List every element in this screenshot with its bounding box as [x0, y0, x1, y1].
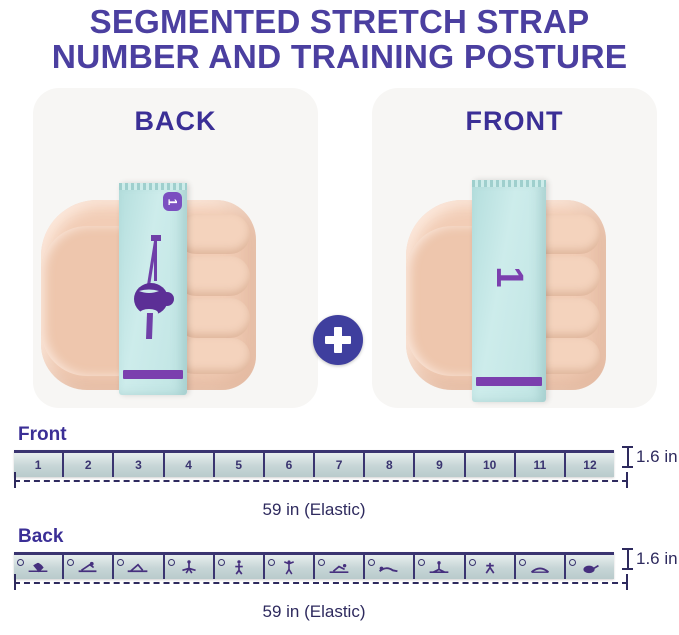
- back-strip-row: 1.6 in: [14, 552, 679, 594]
- back-segment: [566, 555, 614, 579]
- front-segment-number: 6: [286, 458, 293, 472]
- segment-marker-dot: [117, 559, 124, 566]
- panel-front: FRONT 1: [372, 88, 657, 408]
- back-height-label: 1.6 in: [636, 549, 678, 569]
- strap-back: 1: [119, 183, 187, 395]
- finger-segment: [176, 298, 250, 338]
- back-length-label: 59 in (Elastic): [14, 602, 614, 622]
- finger-segment: [176, 338, 250, 374]
- back-segment: [215, 555, 265, 579]
- segment-marker-dot: [17, 559, 24, 566]
- strap-badge-number: 1: [167, 198, 179, 205]
- front-segment: 3: [114, 453, 164, 477]
- pose-seated-straddle-icon: [426, 560, 452, 575]
- front-segment: 7: [315, 453, 365, 477]
- segment-marker-dot: [368, 559, 375, 566]
- front-segment: 10: [466, 453, 516, 477]
- diagram-label-front: Front: [18, 424, 679, 446]
- pose-side-lunge-icon: [326, 560, 352, 575]
- diagram-label-back: Back: [18, 526, 679, 548]
- front-length-label: 59 in (Elastic): [14, 500, 614, 520]
- front-segment: 1: [14, 453, 64, 477]
- back-segment: [516, 555, 566, 579]
- product-photo-panels: BACK 1: [0, 88, 679, 418]
- front-strip: 123456789101112: [14, 450, 614, 477]
- panel-label-front: FRONT: [372, 106, 657, 137]
- front-segment-number: 7: [336, 458, 343, 472]
- front-dimension-line: [14, 480, 628, 483]
- segment-marker-dot: [318, 559, 325, 566]
- strap-number-badge: 1: [163, 192, 182, 211]
- back-tick-right: [626, 574, 628, 590]
- back-dimension-line: [14, 582, 628, 585]
- plus-icon: [313, 315, 363, 365]
- front-segment-number: 11: [533, 458, 546, 472]
- front-segment-number: 5: [235, 458, 242, 472]
- pose-child-pose-icon: [577, 560, 603, 575]
- finger-segment: [176, 214, 250, 254]
- pose-standing-split-icon: [176, 560, 202, 575]
- ibeam-icon: [622, 446, 633, 468]
- pose-prone-extension-icon: [376, 560, 402, 575]
- front-segment: 5: [215, 453, 265, 477]
- back-segment: [365, 555, 415, 579]
- pose-overhead-reach-icon: [276, 560, 302, 575]
- back-segment: [265, 555, 315, 579]
- front-tick-right: [626, 472, 628, 488]
- title-line-2: NUMBER AND TRAINING POSTURE: [0, 40, 679, 76]
- finger-segment: [176, 256, 250, 296]
- front-segment-number: 2: [85, 458, 92, 472]
- front-segment: 9: [415, 453, 465, 477]
- front-height-label: 1.6 in: [636, 447, 678, 467]
- dimension-diagram: Front 123456789101112 1.6 in 59 in (Elas…: [0, 424, 679, 622]
- front-segment-number: 1: [35, 458, 42, 472]
- back-segment: [466, 555, 516, 579]
- segment-marker-dot: [418, 559, 425, 566]
- strap-end-bar: [123, 370, 183, 379]
- segment-marker-dot: [67, 559, 74, 566]
- back-strip: [14, 552, 614, 579]
- front-segment: 11: [516, 453, 566, 477]
- back-segment: [415, 555, 465, 579]
- front-segment-number: 3: [135, 458, 142, 472]
- front-segment-number: 4: [185, 458, 192, 472]
- pose-supine-leg-raise-icon: [75, 560, 101, 575]
- back-segment: [315, 555, 365, 579]
- back-tick-left: [14, 574, 16, 590]
- front-segment: 2: [64, 453, 114, 477]
- front-height-dimension: 1.6 in: [622, 446, 678, 468]
- pose-seated-forward-bend-icon: [25, 560, 51, 575]
- strap-end-bar: [476, 377, 542, 386]
- front-strip-row: 123456789101112 1.6 in: [14, 450, 679, 492]
- pose-forward-fold-icon: [477, 560, 503, 575]
- back-segment: [114, 555, 164, 579]
- back-segment: [14, 555, 64, 579]
- back-segment: [64, 555, 114, 579]
- front-segment: 8: [365, 453, 415, 477]
- front-segment-number: 9: [436, 458, 443, 472]
- strap-segment-number: 1: [490, 266, 528, 287]
- page-title: SEGMENTED STRETCH STRAP NUMBER AND TRAIN…: [0, 0, 679, 76]
- panel-back: BACK 1: [33, 88, 318, 408]
- front-segment-number: 8: [386, 458, 393, 472]
- front-segment: 4: [165, 453, 215, 477]
- training-pose-figure-icon: [125, 229, 181, 349]
- pose-balance-pose-icon: [226, 560, 252, 575]
- pose-reclined-stretch-icon: [125, 560, 151, 575]
- pose-bridge-icon: [527, 560, 553, 575]
- segment-marker-dot: [469, 559, 476, 566]
- strap-front: 1: [472, 180, 546, 402]
- strap-stitched-edge: [119, 183, 187, 190]
- front-tick-left: [14, 472, 16, 488]
- front-segment: 6: [265, 453, 315, 477]
- front-segment: 12: [566, 453, 614, 477]
- title-line-1: SEGMENTED STRETCH STRAP: [0, 4, 679, 40]
- segment-marker-dot: [519, 559, 526, 566]
- segment-marker-dot: [218, 559, 225, 566]
- plus-bar-vertical: [334, 327, 342, 353]
- back-height-dimension: 1.6 in: [622, 548, 678, 570]
- segment-marker-dot: [268, 559, 275, 566]
- back-segment: [165, 555, 215, 579]
- panel-label-back: BACK: [33, 106, 318, 137]
- segment-marker-dot: [168, 559, 175, 566]
- front-segment-number: 12: [583, 458, 596, 472]
- front-segment-number: 10: [483, 458, 496, 472]
- segment-marker-dot: [569, 559, 576, 566]
- ibeam-icon: [622, 548, 633, 570]
- strap-stitched-edge: [472, 180, 546, 187]
